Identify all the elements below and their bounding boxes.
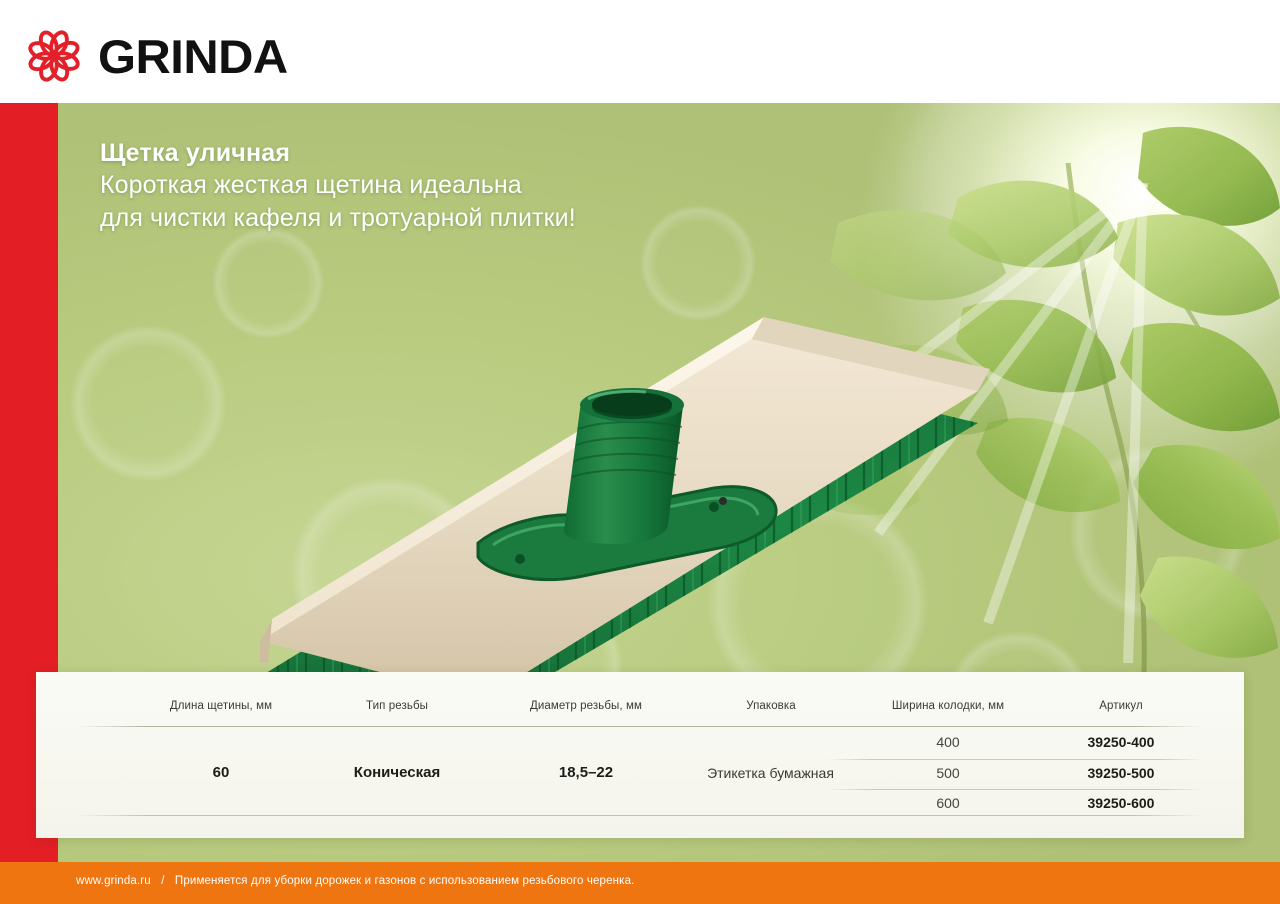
cell-packaging: Этикетка бумажная bbox=[668, 765, 873, 781]
cell-article-2: 39250-500 bbox=[1036, 765, 1206, 781]
column-header-thread-type: Тип резьбы bbox=[312, 700, 482, 712]
specifications-card: Длина щетины, мм Тип резьбы Диаметр резь… bbox=[36, 672, 1244, 838]
variant-divider-1 bbox=[826, 759, 1204, 760]
product-datasheet-page: GRINDA bbox=[0, 0, 1280, 904]
column-header-thread-diameter: Диаметр резьбы, мм bbox=[496, 700, 676, 712]
brand-logo: GRINDA bbox=[26, 28, 280, 84]
page-header: GRINDA bbox=[0, 0, 1280, 103]
cell-bristle-length: 60 bbox=[136, 764, 306, 781]
cell-width-3: 600 bbox=[848, 795, 1048, 811]
footer-separator: / bbox=[154, 875, 171, 887]
table-header-row: Длина щетины, мм Тип резьбы Диаметр резь… bbox=[36, 700, 1244, 722]
hero-text-block: Щетка уличная Короткая жесткая щетина ид… bbox=[100, 138, 576, 235]
footer-note: Применяется для уборки дорожек и газонов… bbox=[175, 875, 635, 887]
brand-name: GRINDA bbox=[98, 29, 288, 84]
hero-subtitle-line-2: для чистки кафеля и тротуарной плитки! bbox=[100, 202, 576, 235]
header-divider bbox=[76, 726, 1204, 727]
cell-article-1: 39250-400 bbox=[1036, 734, 1206, 750]
table-bottom-divider bbox=[76, 815, 1204, 816]
footer-content: www.grinda.ru / Применяется для уборки д… bbox=[76, 875, 634, 887]
hero-title: Щетка уличная bbox=[100, 138, 576, 169]
flower-icon bbox=[26, 28, 82, 84]
product-image-street-broom bbox=[148, 243, 1148, 743]
hero-subtitle-line-1: Короткая жесткая щетина идеальна bbox=[100, 169, 576, 202]
page-footer: www.grinda.ru / Применяется для уборки д… bbox=[0, 862, 1280, 904]
column-header-article: Артикул bbox=[1036, 700, 1206, 712]
cell-thread-type: Коническая bbox=[312, 764, 482, 781]
cell-article-3: 39250-600 bbox=[1036, 795, 1206, 811]
specifications-table: Длина щетины, мм Тип резьбы Диаметр резь… bbox=[36, 672, 1244, 838]
column-header-packaging: Упаковка bbox=[686, 700, 856, 712]
column-header-bristle-length: Длина щетины, мм bbox=[136, 700, 306, 712]
cell-thread-diameter: 18,5–22 bbox=[496, 764, 676, 781]
variant-divider-2 bbox=[826, 789, 1204, 790]
footer-website-link[interactable]: www.grinda.ru bbox=[76, 875, 151, 887]
column-header-block-width: Ширина колодки, мм bbox=[848, 700, 1048, 712]
cell-width-2: 500 bbox=[848, 765, 1048, 781]
cell-width-1: 400 bbox=[848, 734, 1048, 750]
